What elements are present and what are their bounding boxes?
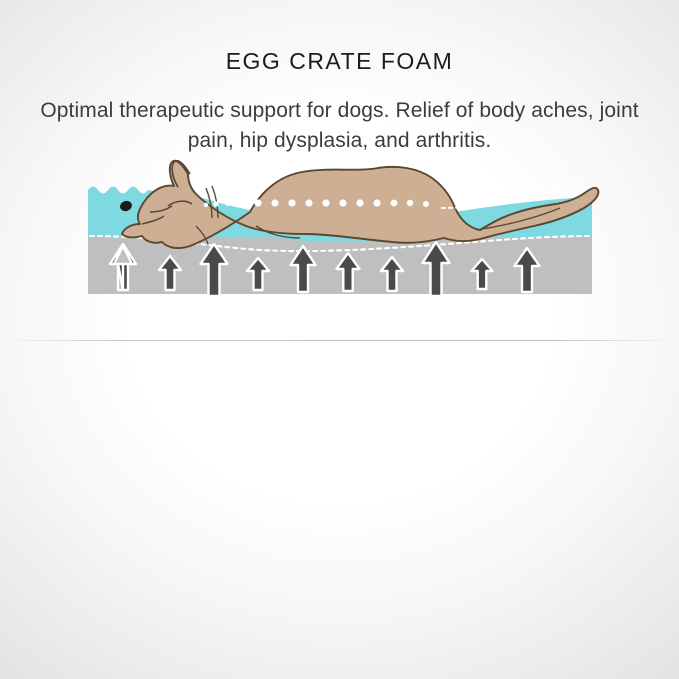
page-title: EGG CRATE FOAM [0,48,679,75]
subtitle-text: Optimal therapeutic support for dogs. Re… [40,96,639,156]
panel-increased-airflow: INCREASED AIRFLOW <:stop offset="0%" sto… [0,340,679,679]
dog-on-foam-cross-section-illustration [0,150,679,330]
infographic-page: EGG CRATE FOAM Optimal therapeutic suppo… [0,0,679,679]
panel-egg-crate-foam: EGG CRATE FOAM Optimal therapeutic suppo… [0,0,679,340]
